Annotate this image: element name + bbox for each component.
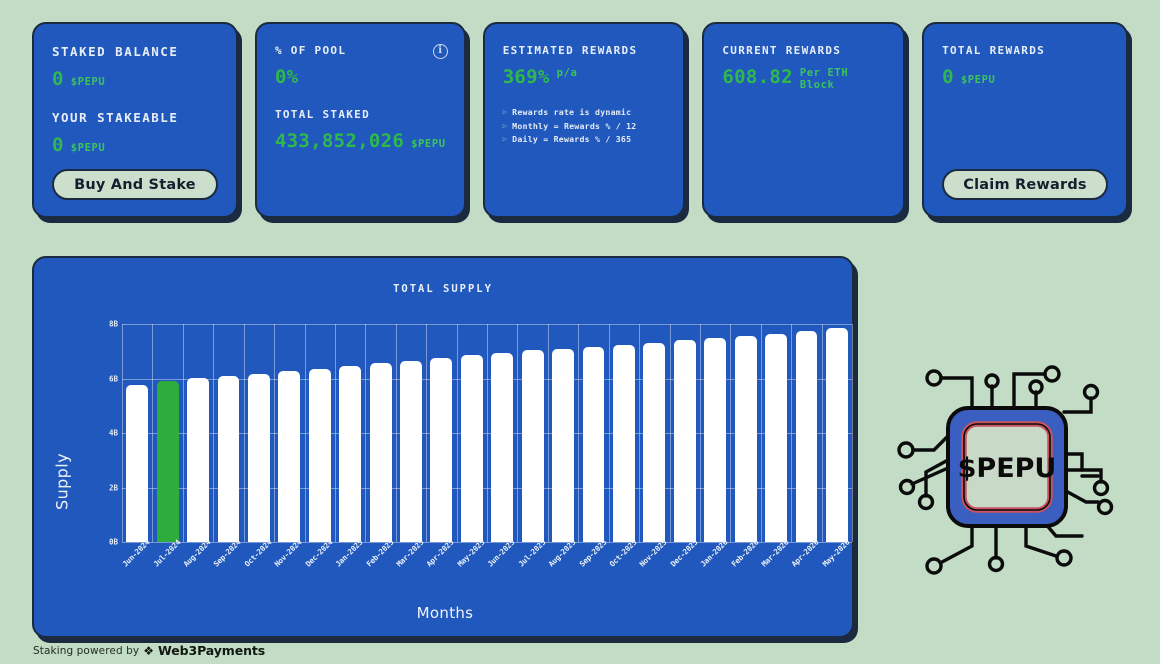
x-tick-slot: Jun-2025: [487, 546, 517, 602]
x-tick-slot: Jun-2024: [122, 546, 152, 602]
bar[interactable]: [826, 328, 848, 542]
y-tick-label: 2B: [92, 483, 118, 492]
x-tick-slot: Aug-2025: [548, 546, 578, 602]
bar-chart: 0B2B4B6B8B: [122, 324, 852, 542]
triangle-bullet-icon: ▷: [503, 120, 507, 134]
estimated-rewards-label: ESTIMATED REWARDS: [503, 44, 666, 57]
footer: Staking powered by ❖ Web3Payments: [33, 643, 265, 658]
bar[interactable]: [430, 358, 452, 542]
bar-slot: [791, 324, 821, 542]
x-tick-slot: Apr-2025: [426, 546, 456, 602]
card-spacer: [52, 90, 218, 110]
bar[interactable]: [157, 381, 179, 542]
bar[interactable]: [126, 385, 148, 542]
x-tick-slot: May-2025: [457, 546, 487, 602]
bar[interactable]: [674, 340, 696, 542]
estimated-rewards-value-row: 369% p/a: [503, 66, 666, 88]
bar-slot: [335, 324, 365, 542]
bar[interactable]: [522, 350, 544, 542]
bar[interactable]: [400, 361, 422, 542]
bar[interactable]: [552, 349, 574, 542]
bar-slot: [730, 324, 760, 542]
chart-plot-area: Supply Months 0B2B4B6B8B Jun-2024Jul-202…: [34, 314, 856, 634]
x-tick-slot: Aug-2024: [183, 546, 213, 602]
bar-slot: [365, 324, 395, 542]
bar-slot: [609, 324, 639, 542]
claim-rewards-button[interactable]: Claim Rewards: [942, 169, 1108, 200]
bar[interactable]: [796, 331, 818, 542]
total-rewards-value-row: 0 $PEPU: [942, 66, 1108, 88]
triangle-bullet-icon: ▷: [503, 133, 507, 147]
bar-slot: [305, 324, 335, 542]
web3payments-logo-icon: ❖: [143, 645, 154, 657]
bar-slot: [761, 324, 791, 542]
x-tick-slot: May-2026: [822, 546, 852, 602]
bar[interactable]: [309, 369, 331, 542]
estimated-rewards-notes: ▷ Rewards rate is dynamic ▷ Monthly = Re…: [503, 106, 666, 147]
staked-balance-value: 0: [52, 68, 64, 90]
bar-slot: [244, 324, 274, 542]
your-stakeable-unit: $PEPU: [71, 142, 106, 154]
current-rewards-value-row: 608.82 Per ETH Block: [722, 66, 885, 91]
bar-slot: [396, 324, 426, 542]
card-total-rewards: TOTAL REWARDS 0 $PEPU Claim Rewards: [922, 22, 1128, 218]
x-tick-slot: Feb-2026: [730, 546, 760, 602]
list-item: ▷ Monthly = Rewards % / 12: [503, 120, 666, 134]
total-supply-chart-panel: TOTAL SUPPLY Supply Months 0B2B4B6B8B Ju…: [32, 256, 854, 638]
staked-balance-value-row: 0 $PEPU: [52, 68, 218, 90]
bar-slot: [122, 324, 152, 542]
estimated-rewards-unit: p/a: [557, 67, 578, 79]
card-staked-balance: STAKED BALANCE 0 $PEPU YOUR STAKEABLE 0 …: [32, 22, 238, 218]
bar[interactable]: [248, 374, 270, 542]
bar-slot: [183, 324, 213, 542]
list-item: ▷ Rewards rate is dynamic: [503, 106, 666, 120]
card-estimated-rewards: ESTIMATED REWARDS 369% p/a ▷ Rewards rat…: [483, 22, 686, 218]
x-tick-slot: Mar-2025: [396, 546, 426, 602]
x-tick-slot: Mar-2026: [761, 546, 791, 602]
total-staked-value: 433,852,026: [275, 130, 404, 152]
note-text: Rewards rate is dynamic: [512, 106, 631, 120]
x-tick-slot: Oct-2024: [244, 546, 274, 602]
x-tick-slot: Jan-2026: [700, 546, 730, 602]
bar-slot: [457, 324, 487, 542]
total-rewards-value: 0: [942, 66, 954, 88]
info-icon[interactable]: i: [433, 44, 448, 59]
note-text: Daily = Rewards % / 365: [512, 133, 631, 147]
current-rewards-label: CURRENT REWARDS: [722, 44, 885, 57]
chip-graphic: $PEPU: [886, 350, 1126, 590]
your-stakeable-label: YOUR STAKEABLE: [52, 110, 218, 125]
x-tick-slot: Jan-2025: [335, 546, 365, 602]
percent-of-pool-value-row: 0%: [275, 66, 446, 88]
bar[interactable]: [339, 366, 361, 542]
bar-slot: [152, 324, 182, 542]
x-axis-label: Months: [34, 604, 856, 622]
footer-brand-name[interactable]: Web3Payments: [158, 643, 265, 658]
note-text: Monthly = Rewards % / 12: [512, 120, 636, 134]
bar[interactable]: [613, 345, 635, 542]
x-axis-ticks: Jun-2024Jul-2024Aug-2024Sep-2024Oct-2024…: [122, 546, 852, 602]
staked-balance-unit: $PEPU: [71, 76, 106, 88]
bar-slot: [487, 324, 517, 542]
bar[interactable]: [491, 353, 513, 542]
bar[interactable]: [765, 334, 787, 542]
bar[interactable]: [704, 338, 726, 542]
bar[interactable]: [218, 376, 240, 542]
total-rewards-label: TOTAL REWARDS: [942, 44, 1108, 57]
bar-slot: [426, 324, 456, 542]
x-tick-slot: Apr-2026: [791, 546, 821, 602]
chart-title: TOTAL SUPPLY: [34, 283, 852, 295]
bar-slot: [517, 324, 547, 542]
percent-of-pool-value: 0%: [275, 66, 298, 88]
bar-slot: [274, 324, 304, 542]
y-axis-label: Supply: [53, 453, 72, 510]
footer-powered-by-text: Staking powered by: [33, 645, 139, 657]
bar-slot: [670, 324, 700, 542]
bar[interactable]: [461, 355, 483, 542]
bar-slot: [700, 324, 730, 542]
current-rewards-unit: Per ETH Block: [800, 67, 885, 91]
bar-slot: [578, 324, 608, 542]
y-tick-label: 6B: [92, 374, 118, 383]
card-current-rewards: CURRENT REWARDS 608.82 Per ETH Block: [702, 22, 905, 218]
x-tick-slot: Sep-2025: [578, 546, 608, 602]
bar-slot: [639, 324, 669, 542]
stats-card-row: STAKED BALANCE 0 $PEPU YOUR STAKEABLE 0 …: [32, 22, 1128, 218]
bar-slot: [548, 324, 578, 542]
total-staked-unit: $PEPU: [411, 138, 446, 150]
y-tick-label: 0B: [92, 538, 118, 547]
bar[interactable]: [643, 343, 665, 542]
x-tick-slot: Sep-2024: [213, 546, 243, 602]
estimated-rewards-value: 369%: [503, 66, 550, 88]
bar[interactable]: [735, 336, 757, 542]
pepu-chip-logo: $PEPU: [886, 350, 1126, 590]
chip-token-label: $PEPU: [958, 453, 1057, 484]
bar-series: [122, 324, 852, 542]
y-tick-label: 4B: [92, 429, 118, 438]
triangle-bullet-icon: ▷: [503, 106, 507, 120]
buy-and-stake-button[interactable]: Buy And Stake: [52, 169, 218, 200]
bar[interactable]: [187, 378, 209, 542]
x-tick-slot: Dec-2024: [305, 546, 335, 602]
percent-of-pool-label: % OF POOL: [275, 44, 446, 57]
bar[interactable]: [370, 363, 392, 542]
x-tick-slot: Jul-2024: [152, 546, 182, 602]
x-tick-slot: Nov-2024: [274, 546, 304, 602]
your-stakeable-value-row: 0 $PEPU: [52, 134, 218, 156]
x-tick-slot: Dec-2025: [670, 546, 700, 602]
x-tick-slot: Feb-2025: [365, 546, 395, 602]
bar[interactable]: [278, 371, 300, 542]
x-tick-slot: Nov-2025: [639, 546, 669, 602]
x-tick-slot: Jul-2025: [517, 546, 547, 602]
card-spacer: [275, 88, 446, 108]
current-rewards-value: 608.82: [722, 66, 792, 88]
staked-balance-label: STAKED BALANCE: [52, 44, 218, 59]
list-item: ▷ Daily = Rewards % / 365: [503, 133, 666, 147]
your-stakeable-value: 0: [52, 134, 64, 156]
total-staked-label: TOTAL STAKED: [275, 108, 446, 121]
bar-slot: [822, 324, 852, 542]
total-rewards-unit: $PEPU: [961, 74, 996, 86]
total-staked-value-row: 433,852,026 $PEPU: [275, 130, 446, 152]
y-tick-label: 8B: [92, 320, 118, 329]
bar-slot: [213, 324, 243, 542]
bar[interactable]: [583, 347, 605, 542]
gridline: [852, 324, 853, 542]
x-tick-slot: Oct-2025: [609, 546, 639, 602]
card-percent-of-pool: % OF POOL i 0% TOTAL STAKED 433,852,026 …: [255, 22, 466, 218]
